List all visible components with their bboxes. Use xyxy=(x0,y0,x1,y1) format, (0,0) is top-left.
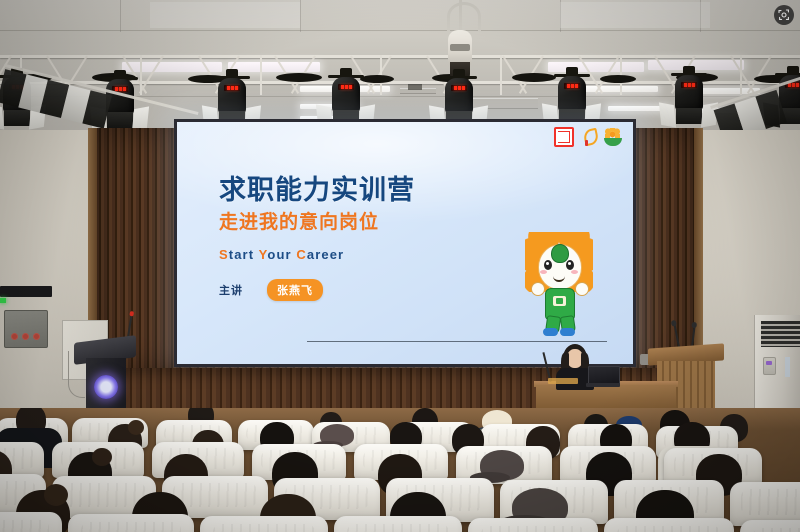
tagline-part: areer xyxy=(307,247,344,262)
tagline-part: tart xyxy=(229,247,259,262)
presenter-laptop xyxy=(586,366,620,388)
orange-flame-logo xyxy=(581,129,597,146)
tagline-part: C xyxy=(296,247,307,262)
slide-title: 求职能力实训营 xyxy=(219,176,415,204)
host-label: 主讲 xyxy=(219,282,243,298)
wall-control-box xyxy=(4,310,48,348)
slide-english-tagline: Start Your Career xyxy=(219,247,415,262)
podium-emblem-light xyxy=(94,375,118,399)
slide-host-row: 主讲 张燕飞 xyxy=(219,279,415,301)
photo-watermark-icon xyxy=(774,5,794,25)
tagline-part: S xyxy=(219,247,229,262)
projection-screen: 求职能力实训营 走进我的意向岗位 Start Your Career 主讲 张燕… xyxy=(174,119,636,367)
lecture-hall-photo: 求职能力实训营 走进我的意向岗位 Start Your Career 主讲 张燕… xyxy=(0,0,800,532)
wood-slat-panel xyxy=(626,128,696,372)
ceiling xyxy=(0,0,800,132)
stage-light xyxy=(668,66,710,130)
slide-divider-line xyxy=(307,341,607,343)
host-name-badge: 张燕飞 xyxy=(267,279,323,301)
wall-display xyxy=(0,286,52,297)
slide-subtitle: 走进我的意向岗位 xyxy=(219,207,415,234)
slide-text-block: 求职能力实训营 走进我的意向岗位 Start Your Career 主讲 张燕… xyxy=(219,176,415,301)
wood-slat-panel xyxy=(96,128,186,372)
sunflower-mascot xyxy=(519,232,599,336)
sunflower-logo xyxy=(604,128,622,146)
tagline-part: our xyxy=(267,247,296,262)
aircon-display xyxy=(763,357,776,375)
wood-trim xyxy=(694,128,703,374)
audience-area xyxy=(0,408,800,532)
status-led xyxy=(0,298,6,303)
slide-logos xyxy=(554,127,622,147)
desk-items xyxy=(548,378,578,384)
red-square-logo xyxy=(554,127,574,147)
